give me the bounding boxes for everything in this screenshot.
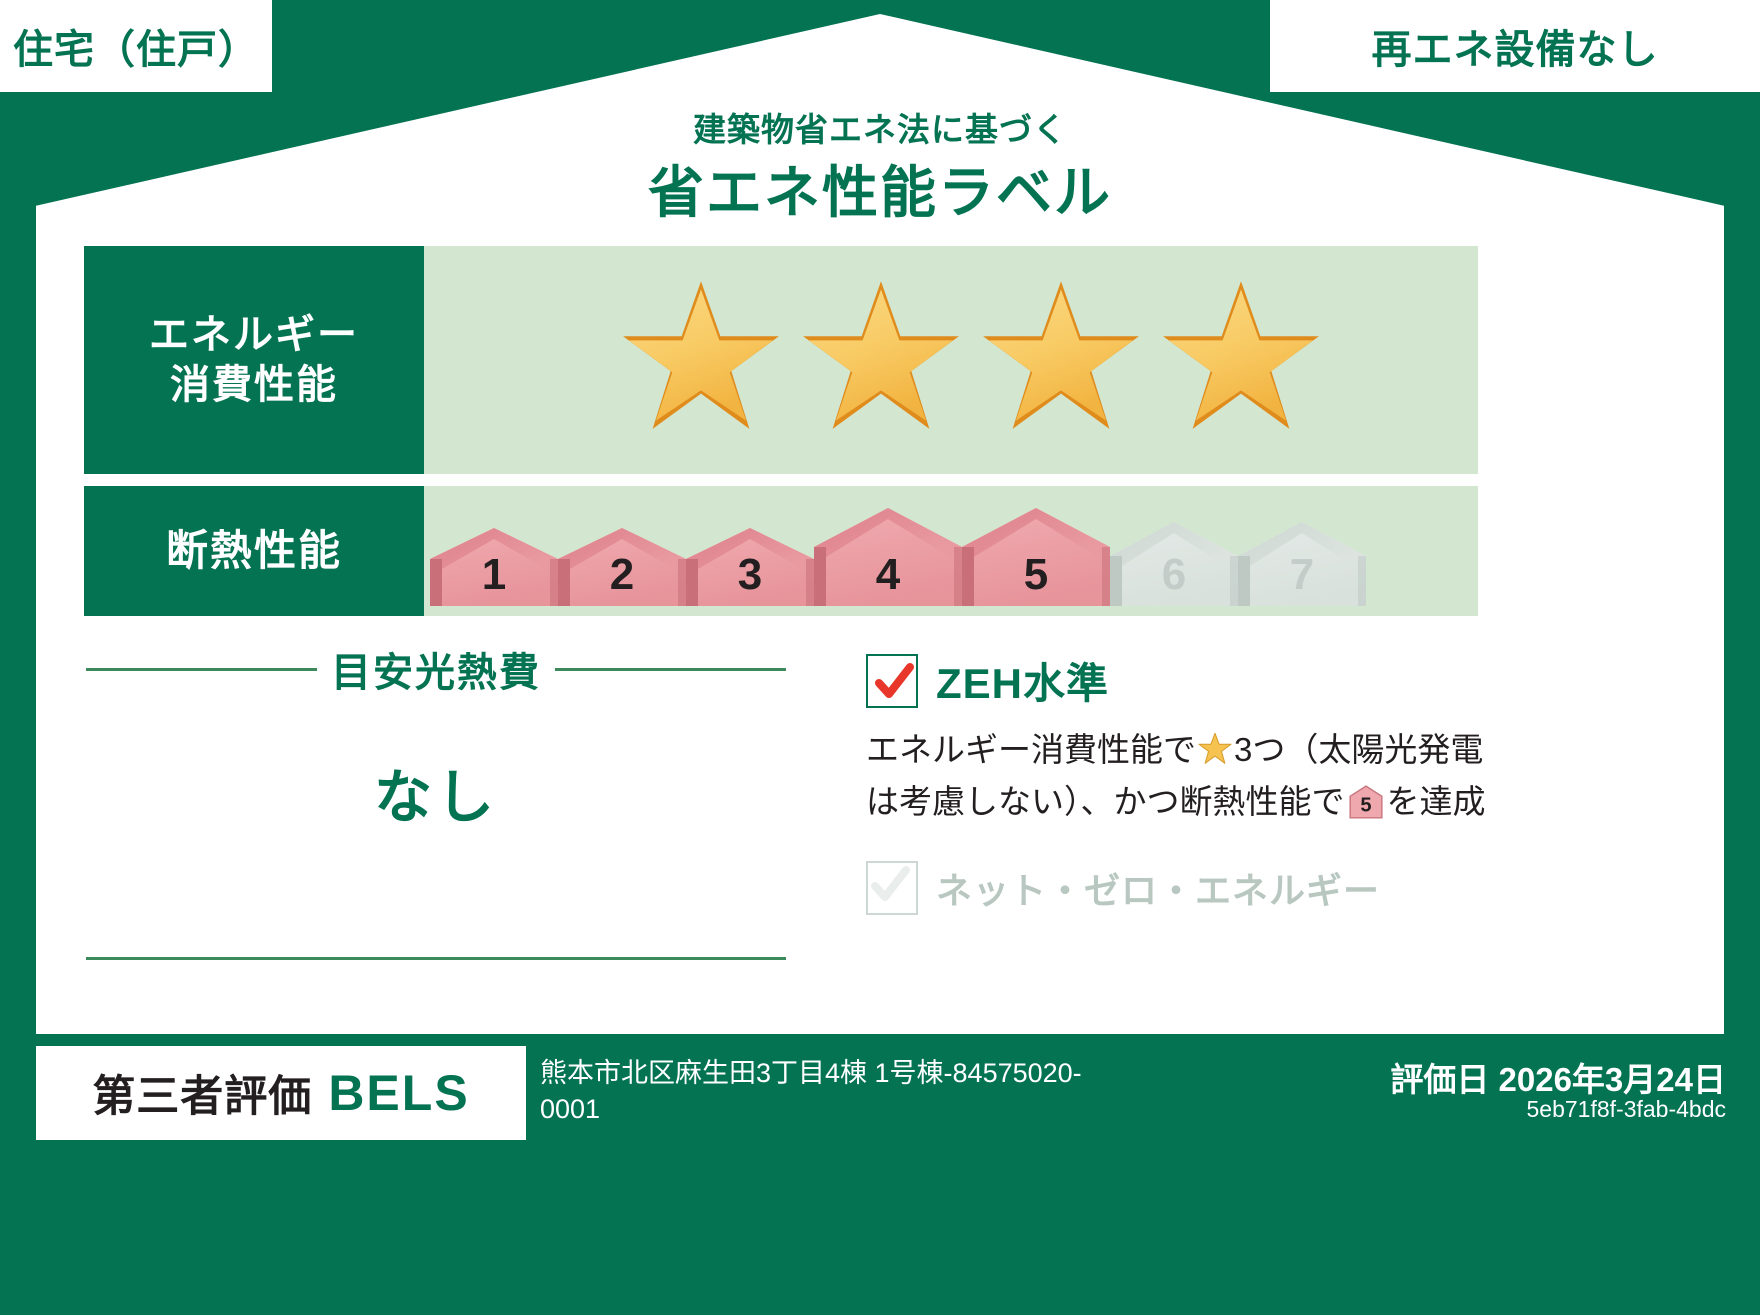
building-type-badge: 住宅（住戸） [0, 0, 272, 92]
insulation-performance-label: 断熱性能 [84, 486, 424, 616]
insulation-grade-number: 6 [1110, 550, 1238, 600]
property-address: 熊本市北区麻生田3丁目4棟 1号棟-84575020-0001 [540, 1055, 1100, 1128]
zeh-section: ZEH水準 エネルギー消費性能で 3つ（太陽光発電 は考慮しない）、かつ断熱性能… [866, 650, 1486, 915]
utility-cost-heading: 目安光熱費 [86, 640, 786, 698]
evaluation-date-value: 2026年3月24日 [1499, 1061, 1726, 1098]
zeh-desc-line1-b: 3つ（太陽光発電 [1234, 731, 1483, 768]
label-subtitle: 建築物省エネ法に基づく [0, 103, 1760, 151]
renewable-energy-text: 再エネ設備なし [1372, 17, 1659, 75]
evaluation-date-label: 評価日 [1390, 1061, 1489, 1098]
insulation-grade-7: 7 [1238, 522, 1366, 606]
insulation-grade-scale: 1234567 [430, 496, 1366, 606]
heading-rule-left [86, 668, 317, 671]
energy-performance-value [424, 246, 1478, 474]
star-icon [1155, 278, 1327, 442]
utility-cost-bottom-rule [86, 957, 786, 960]
label-title: 省エネ性能ラベル [0, 148, 1760, 229]
energy-label-line2: 消費性能 [170, 360, 338, 410]
insulation-grade-2: 2 [558, 528, 686, 606]
insulation-grade-number: 4 [814, 550, 962, 600]
heading-rule-right [555, 668, 786, 671]
insulation-grade-number: 5 [962, 550, 1110, 600]
renewable-energy-badge: 再エネ設備なし [1270, 0, 1760, 92]
insulation-performance-value: 1234567 [424, 486, 1478, 616]
third-party-label: 第三者評価 [92, 1062, 312, 1124]
zeh-description: エネルギー消費性能で 3つ（太陽光発電 は考慮しない）、かつ断熱性能で 5 を達… [866, 727, 1486, 833]
utility-cost-value: なし [86, 750, 786, 834]
star-icon [615, 278, 787, 442]
zeh-title-text: ZEH水準 [936, 650, 1109, 711]
bels-label-canvas: 住宅（住戸） 再エネ設備なし 建築物省エネ法に基づく 省エネ性能ラベル エネルギ… [0, 0, 1760, 1315]
insulation-grade-number: 2 [558, 550, 686, 600]
energy-label-line1: エネルギー [149, 310, 359, 360]
check-icon-disabled [868, 863, 912, 907]
insulation-grade-icon-inline: 5 [1348, 784, 1384, 833]
energy-performance-row: エネルギー 消費性能 [84, 246, 1478, 474]
star-icon [795, 278, 967, 442]
insulation-grade-4: 4 [814, 508, 962, 606]
evaluation-date: 評価日 2026年3月24日 [1390, 1053, 1726, 1101]
insulation-grade-number: 3 [686, 550, 814, 600]
zeh-desc-line2-b: を達成 [1387, 783, 1486, 820]
star-rating [615, 278, 1327, 442]
building-type-text: 住宅（住戸） [13, 17, 259, 75]
utility-cost-heading-text: 目安光熱費 [331, 640, 541, 698]
star-icon [975, 278, 1147, 442]
zeh-desc-line2-a: は考慮しない）、かつ断熱性能で [866, 783, 1345, 820]
insulation-grade-number: 1 [430, 550, 558, 600]
insulation-grade-3: 3 [686, 528, 814, 606]
bels-logo-text: BELS [328, 1064, 469, 1122]
star-icon-inline [1198, 732, 1232, 779]
net-zero-checkbox[interactable] [866, 861, 918, 915]
insulation-performance-row: 断熱性能 1234567 [84, 486, 1478, 616]
certificate-id: 5eb71f8f-3fab-4bdc [1527, 1096, 1727, 1123]
insulation-label-text: 断熱性能 [166, 525, 342, 578]
zeh-checkbox[interactable] [866, 654, 918, 708]
check-icon [872, 660, 916, 704]
insulation-grade-5: 5 [962, 508, 1110, 606]
insulation-grade-6: 6 [1110, 522, 1238, 606]
energy-performance-label: エネルギー 消費性能 [84, 246, 424, 474]
insulation-grade-1: 1 [430, 528, 558, 606]
zeh-desc-line1-a: エネルギー消費性能で [866, 731, 1196, 768]
net-zero-row: ネット・ゼロ・エネルギー [866, 861, 1486, 915]
zeh-heading: ZEH水準 [866, 650, 1486, 711]
net-zero-label: ネット・ゼロ・エネルギー [936, 862, 1380, 914]
inline-house-number: 5 [1360, 794, 1371, 816]
bels-badge: 第三者評価 BELS [36, 1046, 526, 1140]
insulation-grade-number: 7 [1238, 550, 1366, 600]
